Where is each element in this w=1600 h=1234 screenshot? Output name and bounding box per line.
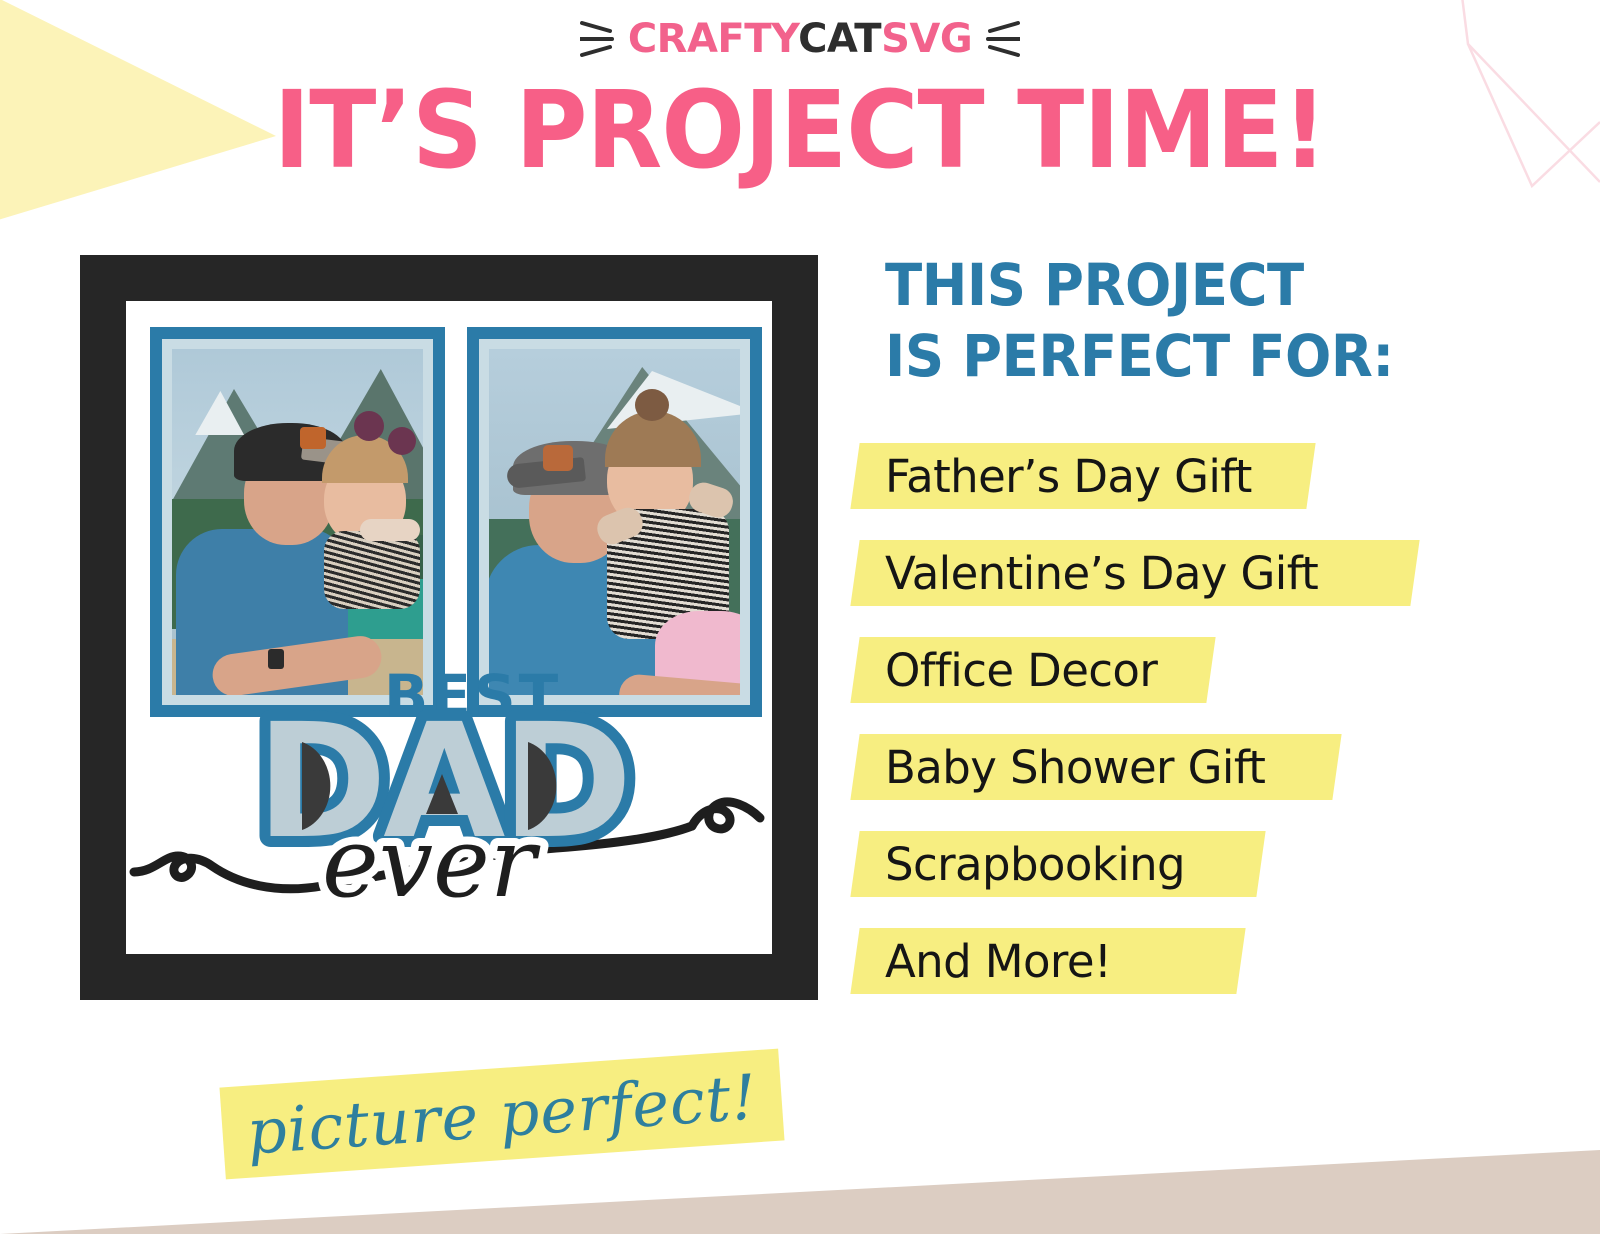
- brand-logo: CRAFTYCATSVG: [0, 16, 1600, 62]
- perfect-for-heading-line1: THIS PROJECT: [885, 250, 1394, 321]
- dad-laughing-with-daughter-photo: [489, 349, 740, 695]
- benefit-label: Scrapbooking: [885, 831, 1185, 897]
- dash-fan-right-icon: [986, 17, 1020, 61]
- perfect-for-heading-line2: IS PERFECT FOR:: [885, 321, 1394, 392]
- photo-inner-mat-right: [479, 339, 750, 705]
- logo-prefix: CRAFTY: [628, 16, 798, 62]
- frame-white-mat: BEST DAD DAD ever ever: [126, 301, 772, 954]
- dash-fan-left-icon: [580, 17, 614, 61]
- perfect-for-heading: THIS PROJECT IS PERFECT FOR:: [885, 250, 1394, 392]
- page-headline: IT’S PROJECT TIME!: [64, 78, 1536, 185]
- framed-artwork-mockup: BEST DAD DAD ever ever: [80, 255, 818, 1000]
- list-item: Father’s Day Gift: [855, 437, 1495, 534]
- benefit-label: And More!: [885, 928, 1111, 994]
- logo-mid: CAT: [798, 16, 881, 62]
- best-dad-ever-lettering: BEST DAD DAD ever ever: [126, 658, 772, 928]
- word-ever: ever: [322, 807, 541, 919]
- brand-logo-text: CRAFTYCATSVG: [628, 16, 972, 62]
- dad-kissing-daughter-photo: [172, 349, 423, 695]
- list-item: Valentine’s Day Gift: [855, 534, 1495, 631]
- list-item: Scrapbooking: [855, 825, 1495, 922]
- tagline: picture perfect!: [222, 1068, 782, 1160]
- list-item: Baby Shower Gift: [855, 728, 1495, 825]
- benefit-label: Valentine’s Day Gift: [885, 540, 1318, 606]
- list-item: Office Decor: [855, 631, 1495, 728]
- benefit-list: Father’s Day Gift Valentine’s Day Gift O…: [855, 437, 1495, 1019]
- benefit-label: Baby Shower Gift: [885, 734, 1265, 800]
- list-item: And More!: [855, 922, 1495, 1019]
- photo-inner-mat-left: [162, 339, 433, 705]
- logo-suffix: SVG: [881, 16, 972, 62]
- benefit-label: Office Decor: [885, 637, 1157, 703]
- benefit-label: Father’s Day Gift: [885, 443, 1252, 509]
- tagline-text: picture perfect!: [219, 1049, 784, 1180]
